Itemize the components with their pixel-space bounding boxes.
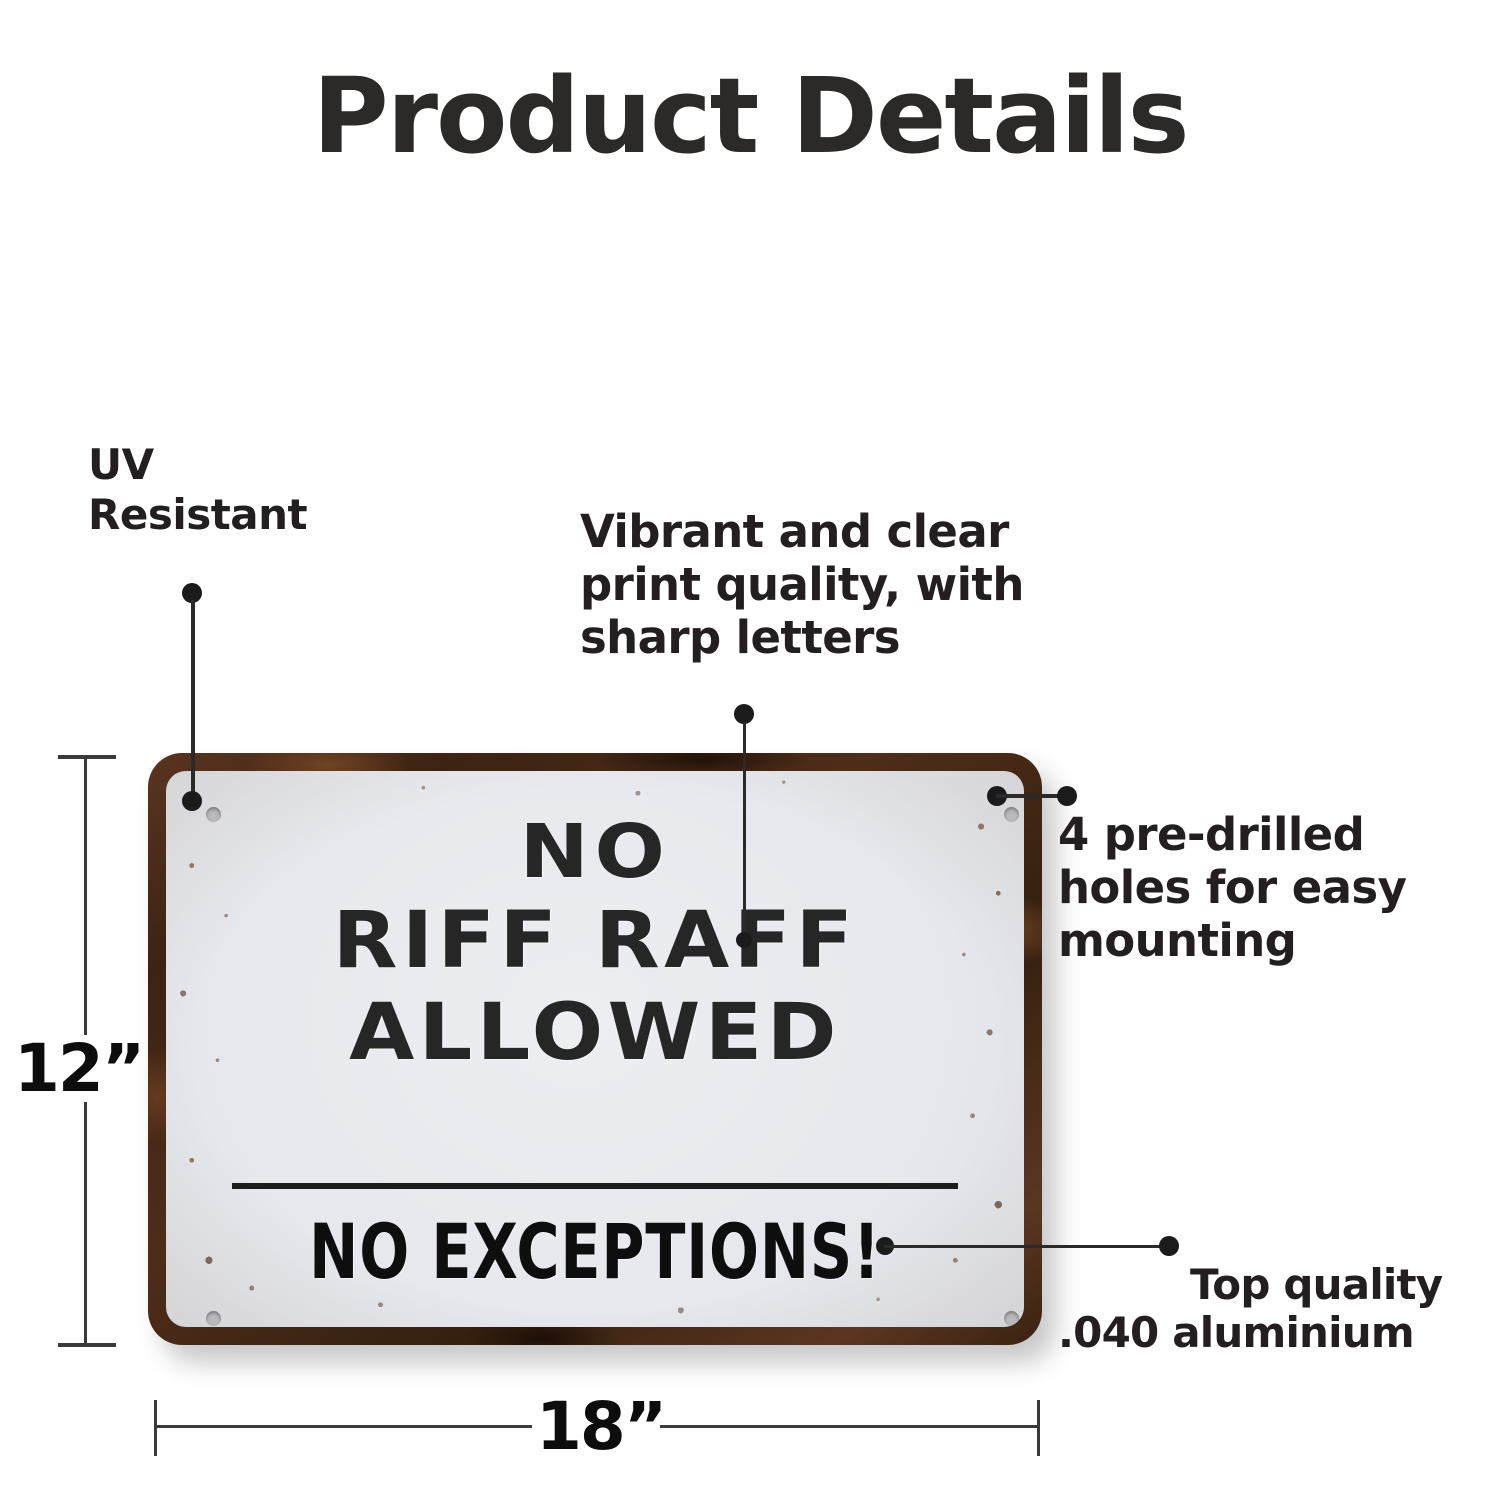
- sign-text-line-2: RIFF RAFF: [166, 899, 1024, 985]
- height-dimension-label: 12”: [14, 1030, 143, 1107]
- callout-pre-drilled-holes: 4 pre-drilled holes for easy mounting: [1058, 808, 1406, 967]
- callout-print-quality: Vibrant and clear print quality, with sh…: [580, 505, 1024, 664]
- leader-line-uv: [191, 600, 195, 808]
- leader-dot-aluminium-right: [1159, 1236, 1179, 1256]
- width-dimension-line-right: [660, 1425, 1038, 1428]
- leader-dot-print-bottom: [736, 932, 752, 948]
- page-title: Product Details: [0, 62, 1500, 171]
- leader-line-print: [743, 722, 746, 944]
- callout-aluminium-line-1: Top quality: [1190, 1260, 1442, 1309]
- leader-dot-uv-bottom: [182, 791, 202, 811]
- sign-divider-rule: [232, 1183, 958, 1189]
- product-details-infographic: Product Details 12” 18” NO RIFF RAFF ALL…: [0, 0, 1500, 1500]
- callout-aluminium: Top quality .040 aluminium: [1190, 1212, 1442, 1407]
- callout-aluminium-line-2: .040 aluminium: [1058, 1309, 1442, 1358]
- height-dimension-line-lower: [84, 1102, 87, 1344]
- pre-drilled-hole-bottom-left: [206, 1311, 221, 1326]
- width-dimension-cap-left: [154, 1400, 157, 1456]
- height-dimension-line-upper: [84, 757, 87, 1035]
- sign-text-line-1: NO: [166, 815, 1024, 889]
- height-dimension-cap-top: [58, 755, 116, 759]
- width-dimension-label: 18”: [536, 1388, 665, 1465]
- callout-uv-resistant: UV Resistant: [88, 440, 307, 539]
- height-dimension-cap-bottom: [58, 1343, 116, 1347]
- metal-sign-product: NO RIFF RAFF ALLOWED NO EXCEPTIONS!: [148, 753, 1042, 1345]
- width-dimension-cap-right: [1037, 1400, 1040, 1456]
- sign-face: NO RIFF RAFF ALLOWED NO EXCEPTIONS!: [166, 771, 1024, 1327]
- sign-text-line-3: ALLOWED: [166, 991, 1024, 1077]
- leader-dot-print-top: [734, 704, 754, 724]
- pre-drilled-hole-bottom-right: [1004, 1311, 1019, 1326]
- sign-text-line-4: NO EXCEPTIONS!: [226, 1207, 964, 1296]
- leader-dot-holes-right: [1057, 786, 1077, 806]
- width-dimension-line-left: [156, 1425, 532, 1428]
- sign-text-block: NO RIFF RAFF ALLOWED: [166, 815, 1024, 1077]
- leader-line-aluminium: [884, 1245, 1170, 1248]
